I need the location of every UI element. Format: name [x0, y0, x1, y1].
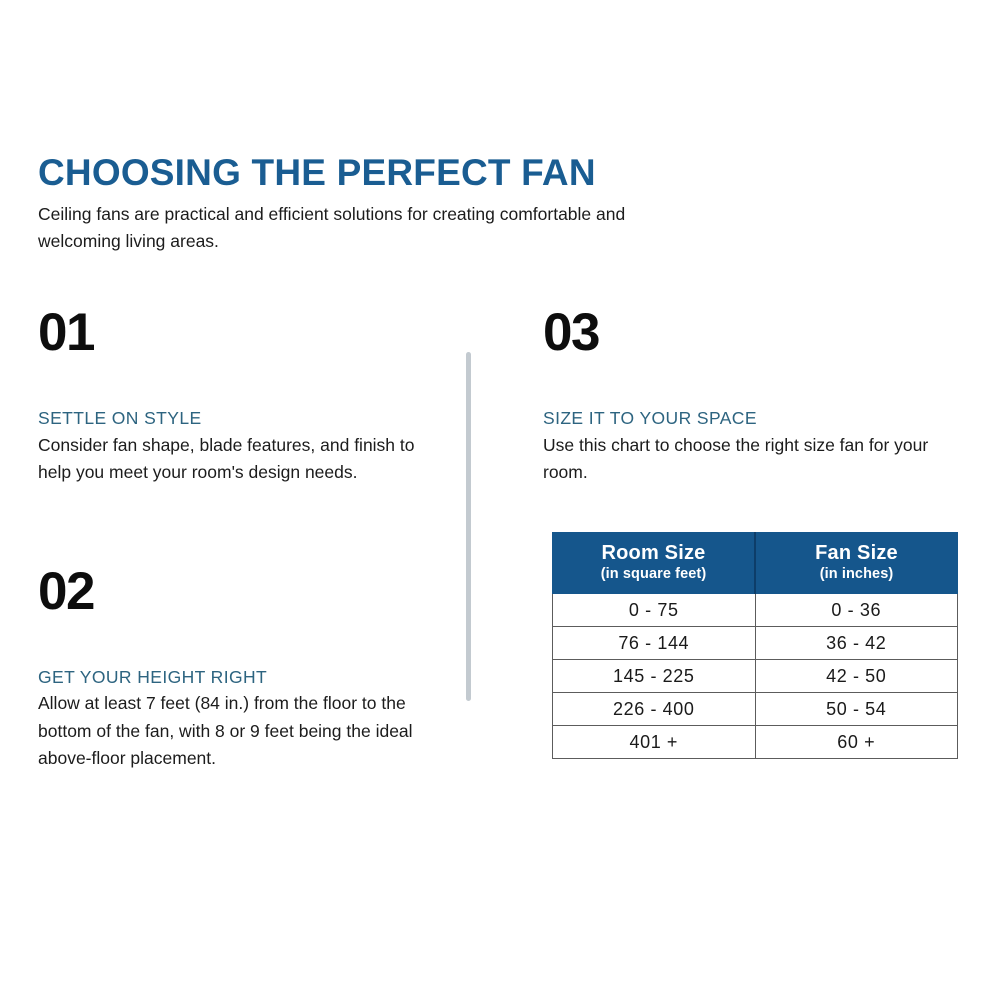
cell-fan-size: 50 - 54 [755, 693, 958, 726]
step-02-number: 02 [38, 565, 438, 618]
step-01-number: 01 [38, 306, 438, 359]
cell-fan-size: 42 - 50 [755, 660, 958, 693]
column-header-fan-size-title: Fan Size [760, 542, 953, 566]
table-header-row: Room Size (in square feet) Fan Size (in … [553, 533, 958, 594]
table-row: 401 + 60 + [553, 726, 958, 759]
step-02-body: Allow at least 7 feet (84 in.) from the … [38, 690, 438, 772]
table-header: Room Size (in square feet) Fan Size (in … [553, 533, 958, 594]
step-02: 02 GET YOUR HEIGHT RIGHT Allow at least … [38, 565, 438, 773]
cell-room-size: 145 - 225 [553, 660, 756, 693]
cell-fan-size: 0 - 36 [755, 594, 958, 627]
cell-fan-size: 60 + [755, 726, 958, 759]
cell-room-size: 401 + [553, 726, 756, 759]
fan-sizing-table: Room Size (in square feet) Fan Size (in … [552, 532, 958, 759]
left-column: 01 SETTLE ON STYLE Consider fan shape, b… [38, 306, 438, 773]
column-header-fan-size: Fan Size (in inches) [755, 533, 958, 594]
table-body: 0 - 75 0 - 36 76 - 144 36 - 42 145 - 225… [553, 594, 958, 759]
table-row: 0 - 75 0 - 36 [553, 594, 958, 627]
step-03-copy: SIZE IT TO YOUR SPACE Use this chart to … [543, 407, 963, 487]
step-01-subheading: SETTLE ON STYLE [38, 407, 438, 430]
cell-room-size: 0 - 75 [553, 594, 756, 627]
header-block: CHOOSING THE PERFECT FAN Ceiling fans ar… [38, 152, 738, 255]
step-03: 03 SIZE IT TO YOUR SPACE Use this chart … [543, 306, 963, 487]
right-column: 03 SIZE IT TO YOUR SPACE Use this chart … [543, 306, 963, 487]
column-header-room-size-units: (in square feet) [557, 566, 750, 584]
column-divider [466, 352, 471, 701]
table-row: 226 - 400 50 - 54 [553, 693, 958, 726]
step-03-body: Use this chart to choose the right size … [543, 432, 963, 487]
cell-room-size: 76 - 144 [553, 627, 756, 660]
column-header-room-size: Room Size (in square feet) [553, 533, 756, 594]
infographic-page: CHOOSING THE PERFECT FAN Ceiling fans ar… [0, 0, 1000, 1000]
step-01: 01 SETTLE ON STYLE Consider fan shape, b… [38, 306, 438, 487]
cell-room-size: 226 - 400 [553, 693, 756, 726]
step-01-body: Consider fan shape, blade features, and … [38, 432, 438, 487]
table-row: 145 - 225 42 - 50 [553, 660, 958, 693]
step-03-number: 03 [543, 306, 963, 359]
step-03-subheading: SIZE IT TO YOUR SPACE [543, 407, 963, 430]
table-row: 76 - 144 36 - 42 [553, 627, 958, 660]
page-title: CHOOSING THE PERFECT FAN [38, 152, 738, 193]
column-header-fan-size-units: (in inches) [760, 566, 953, 584]
intro-paragraph: Ceiling fans are practical and efficient… [38, 201, 678, 254]
column-header-room-size-title: Room Size [557, 542, 750, 566]
step-01-copy: SETTLE ON STYLE Consider fan shape, blad… [38, 407, 438, 487]
step-02-copy: GET YOUR HEIGHT RIGHT Allow at least 7 f… [38, 666, 438, 773]
cell-fan-size: 36 - 42 [755, 627, 958, 660]
step-02-subheading: GET YOUR HEIGHT RIGHT [38, 666, 438, 689]
